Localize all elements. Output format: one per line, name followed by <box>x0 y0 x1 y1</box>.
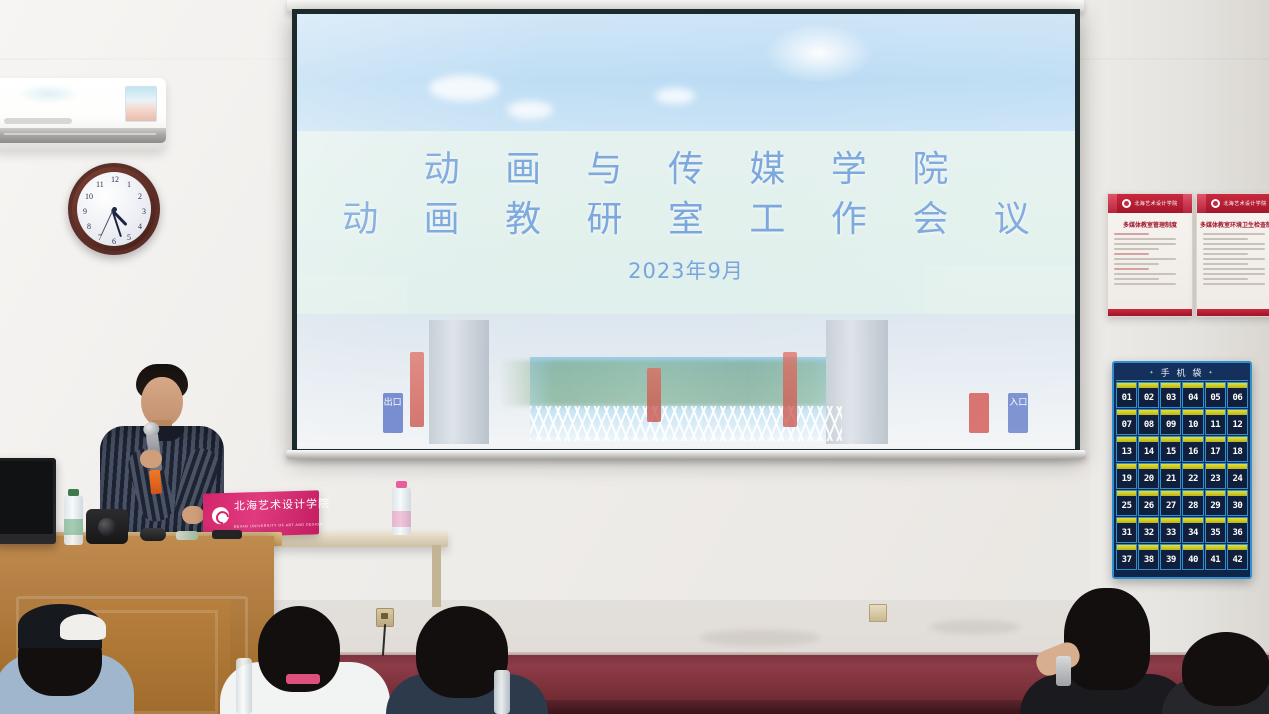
phone-pocket: 11 <box>1205 409 1226 435</box>
phone-pocket-number: 06 <box>1232 393 1242 407</box>
clock-numeral: 10 <box>85 192 93 201</box>
notice-line <box>1203 278 1248 280</box>
phone-pocket: 39 <box>1160 544 1181 570</box>
bottle-cap <box>68 489 79 496</box>
phone-pocket: 20 <box>1138 463 1159 489</box>
phone-pocket: 41 <box>1205 544 1226 570</box>
notice-line <box>1203 258 1265 260</box>
audience-member <box>396 600 536 714</box>
gate-sign-exit: 出口 <box>383 393 403 433</box>
phone-pocket-number: 35 <box>1210 528 1220 542</box>
clock-numeral: 12 <box>111 175 119 184</box>
phone-pocket: 30 <box>1227 490 1248 516</box>
phone-pocket: 33 <box>1160 517 1181 543</box>
phone-pocket: 32 <box>1138 517 1159 543</box>
phone-pocket: 07 <box>1116 409 1137 435</box>
phone-pocket: 04 <box>1182 382 1203 408</box>
phone-pocket-number: 32 <box>1144 528 1154 542</box>
phone-pocket-number: 36 <box>1232 528 1242 542</box>
phone-pocket-number: 25 <box>1122 501 1132 515</box>
phone-pocket: 05 <box>1205 382 1226 408</box>
notice-line <box>1114 263 1159 265</box>
phone-pocket-header-label: 手 机 袋 <box>1161 366 1204 379</box>
gate-pillar-left <box>429 320 489 444</box>
slide-campus-gate: 出口 入口 <box>297 314 1075 449</box>
lecture-hall-photo: 12 1 2 3 4 5 6 7 8 9 10 11 <box>0 0 1269 714</box>
phone-pocket-number: 24 <box>1232 474 1242 488</box>
ac-air-vent <box>0 128 166 143</box>
side-table-leg <box>432 545 441 607</box>
phone-pocket: 09 <box>1160 409 1181 435</box>
presenter-gesturing-hand <box>182 506 204 524</box>
cap-brim <box>60 614 106 640</box>
notice-line <box>1203 238 1248 240</box>
gate-banner <box>783 352 797 428</box>
clock-numeral: 11 <box>96 180 104 189</box>
phone-pocket-number: 17 <box>1210 447 1220 461</box>
university-logo-icon <box>1122 199 1131 208</box>
slide-date: 2023年9月 <box>297 255 1075 285</box>
notice-line <box>1203 243 1265 245</box>
gate-sign-entrance: 入口 <box>1008 393 1028 433</box>
phone-pocket-number: 03 <box>1166 393 1176 407</box>
phone-pocket-number: 15 <box>1166 447 1176 461</box>
phone-pocket-number: 41 <box>1210 555 1220 569</box>
clock-face: 12 1 2 3 4 5 6 7 8 9 10 11 <box>77 172 151 246</box>
camera-lens <box>98 518 116 536</box>
phone-pocket-number: 02 <box>1144 393 1154 407</box>
slide-cloud <box>655 88 695 104</box>
gate-sign-red <box>969 393 989 433</box>
phone-pocket-number: 16 <box>1188 447 1198 461</box>
university-logo-icon <box>212 506 229 523</box>
notice-line <box>1114 273 1176 275</box>
phone-pocket: 19 <box>1116 463 1137 489</box>
phone-pocket: 28 <box>1182 490 1203 516</box>
audience-head <box>1182 632 1269 706</box>
phone-pocket: 22 <box>1182 463 1203 489</box>
audience-lanyard <box>286 674 320 684</box>
notice-line <box>1114 248 1159 250</box>
sign-english-name: BEIHAI UNIVERSITY OF ART AND DESIGN <box>234 522 323 528</box>
phone-pocket-number: 19 <box>1122 474 1132 488</box>
microphone-orange-tag <box>149 470 162 495</box>
notice-line <box>1114 258 1176 260</box>
gate-banner <box>647 368 661 422</box>
notice-line <box>1203 248 1265 250</box>
phone-pocket: 03 <box>1160 382 1181 408</box>
notice-board-header: 北海艺术设计学院 <box>1108 194 1192 213</box>
phone-pocket-number: 22 <box>1188 474 1198 488</box>
notice-line <box>1114 238 1176 240</box>
phone-pocket-number: 11 <box>1210 420 1220 434</box>
phone-pocket-chart: ✦ 手 机 袋 ✦ 010203040506070809101112131415… <box>1112 361 1252 579</box>
audience-member <box>1020 580 1170 714</box>
phone-pocket-header: ✦ 手 机 袋 ✦ <box>1116 365 1248 381</box>
notice-line <box>1203 233 1265 235</box>
notice-line <box>1114 268 1149 270</box>
bottle-label <box>64 519 83 535</box>
audience-member <box>228 596 378 714</box>
phone-pocket-number: 13 <box>1122 447 1132 461</box>
phone-pocket-number: 21 <box>1166 474 1176 488</box>
slide-sun-glow <box>764 23 874 83</box>
phone-pocket-number: 39 <box>1166 555 1176 569</box>
phone-pocket: 14 <box>1138 436 1159 462</box>
phone-pocket: 34 <box>1182 517 1203 543</box>
notice-line <box>1114 278 1159 280</box>
phone-pocket-number: 12 <box>1232 420 1242 434</box>
bottle-label <box>392 511 411 527</box>
water-bottle <box>236 658 252 714</box>
notice-board-2: 北海艺术设计学院 多媒体教室环境卫生检查制度 <box>1196 193 1269 317</box>
phone-pocket-number: 01 <box>1122 393 1132 407</box>
phone-pocket: 17 <box>1205 436 1226 462</box>
phone-pocket-number: 27 <box>1166 501 1176 515</box>
slide-title-block: 动 画 与 传 媒 学 院 动 画 教 研 室 工 作 会 议 2023年9月 <box>297 145 1075 285</box>
phone-pocket: 35 <box>1205 517 1226 543</box>
clock-numeral: 9 <box>83 207 87 216</box>
phone-pocket-number: 34 <box>1188 528 1198 542</box>
phone-pocket-number: 18 <box>1232 447 1242 461</box>
phone-pocket-number: 42 <box>1232 555 1242 569</box>
phone-pocket-grid: 0102030405060708091011121314151617181920… <box>1116 382 1248 570</box>
wall-scuff <box>930 620 1020 634</box>
phone-pocket: 06 <box>1227 382 1248 408</box>
phone-pocket-number: 40 <box>1188 555 1198 569</box>
phone-pocket: 10 <box>1182 409 1203 435</box>
document-camera <box>86 509 128 544</box>
notice-line <box>1114 243 1176 245</box>
phone-pocket: 02 <box>1138 382 1159 408</box>
projector-screen-weight-bar <box>286 450 1086 459</box>
notice-line <box>1114 253 1149 255</box>
computer-mouse[interactable] <box>140 528 166 541</box>
phone-pocket: 31 <box>1116 517 1137 543</box>
audience-head-bun <box>1064 588 1150 690</box>
phone-pocket: 16 <box>1182 436 1203 462</box>
phone-pocket: 21 <box>1160 463 1181 489</box>
phone-pocket: 29 <box>1205 490 1226 516</box>
pink-bottle <box>392 487 411 535</box>
phone-pocket-number: 38 <box>1144 555 1154 569</box>
presenter-hand-on-mic <box>140 450 162 468</box>
phone-pocket-number: 31 <box>1122 528 1132 542</box>
phone-pocket: 24 <box>1227 463 1248 489</box>
wall-scuff <box>700 630 820 646</box>
notice-line <box>1203 273 1265 275</box>
university-logo-icon <box>1211 199 1220 208</box>
sign-text-block: 北海艺术设计学院 BEIHAI UNIVERSITY OF ART AND DE… <box>234 494 330 533</box>
water-bottle <box>494 670 510 714</box>
notice-line <box>1203 283 1265 285</box>
microphone-head <box>143 421 161 437</box>
phone-pocket-number: 20 <box>1144 474 1154 488</box>
phone-pocket: 40 <box>1182 544 1203 570</box>
star-icon: ✦ <box>1149 370 1155 376</box>
marker-pens <box>176 531 198 540</box>
phone-pocket-number: 28 <box>1188 501 1198 515</box>
phone-pocket-number: 14 <box>1144 447 1154 461</box>
ac-display-bar <box>4 118 72 124</box>
phone-pocket: 27 <box>1160 490 1181 516</box>
wall-socket-plate <box>869 604 887 622</box>
audience-member <box>1168 618 1269 714</box>
wall-clock: 12 1 2 3 4 5 6 7 8 9 10 11 <box>68 163 160 255</box>
clock-numeral: 1 <box>127 180 131 189</box>
notice-board-body <box>1197 233 1269 285</box>
notice-line <box>1203 253 1248 255</box>
notice-board-footer <box>1197 309 1269 316</box>
notice-board-logo-text: 北海艺术设计学院 <box>1223 200 1266 207</box>
phone-pocket: 08 <box>1138 409 1159 435</box>
slide-cloud <box>507 101 553 119</box>
ac-sheen <box>18 84 80 104</box>
phone-pocket-number: 09 <box>1166 420 1176 434</box>
phone-pocket-number: 07 <box>1122 420 1132 434</box>
notice-board-header: 北海艺术设计学院 <box>1197 194 1269 213</box>
phone-pocket-number: 04 <box>1188 393 1198 407</box>
audience-member <box>0 596 130 714</box>
phone-pocket-number: 37 <box>1122 555 1132 569</box>
phone-pocket-number: 33 <box>1166 528 1176 542</box>
phone-pocket: 37 <box>1116 544 1137 570</box>
phone-pocket: 36 <box>1227 517 1248 543</box>
presentation-slide: 动 画 与 传 媒 学 院 动 画 教 研 室 工 作 会 议 2023年9月 … <box>297 14 1075 449</box>
phone-pocket-number: 05 <box>1210 393 1220 407</box>
slide-title-line-1: 动 画 与 传 媒 学 院 <box>297 145 1075 195</box>
notice-board-title: 多媒体教室管理制度 <box>1108 220 1192 229</box>
slide-title-line-2: 动 画 教 研 室 工 作 会 议 <box>297 195 1075 245</box>
phone-pocket: 15 <box>1160 436 1181 462</box>
clock-numeral: 8 <box>87 222 91 231</box>
raised-phone[interactable] <box>1056 656 1071 686</box>
phone-pocket-number: 23 <box>1210 474 1220 488</box>
phone-pocket: 13 <box>1116 436 1137 462</box>
podium-water-bottle <box>64 495 83 545</box>
phone-pocket-number: 26 <box>1144 501 1154 515</box>
slide-cloud <box>429 75 499 101</box>
gate-banner <box>410 352 424 428</box>
clock-numeral: 5 <box>127 233 131 242</box>
phone-pocket: 26 <box>1138 490 1159 516</box>
phone-pocket: 25 <box>1116 490 1137 516</box>
phone-pocket: 18 <box>1227 436 1248 462</box>
remote-control[interactable] <box>212 530 242 539</box>
podium-monitor <box>0 458 56 544</box>
clock-numeral: 4 <box>138 222 142 231</box>
phone-pocket-number: 10 <box>1188 420 1198 434</box>
air-conditioner <box>0 78 166 150</box>
clock-numeral: 3 <box>142 207 146 216</box>
clock-numeral: 2 <box>138 192 142 201</box>
notice-line <box>1114 283 1176 285</box>
phone-pocket-number: 08 <box>1144 420 1154 434</box>
projection-screen: 动 画 与 传 媒 学 院 动 画 教 研 室 工 作 会 议 2023年9月 … <box>292 9 1080 454</box>
clock-second-hand <box>100 209 114 237</box>
notice-board-title: 多媒体教室环境卫生检查制度 <box>1197 220 1269 229</box>
bottle-cap <box>396 481 407 488</box>
monitor-screen <box>0 461 53 534</box>
phone-pocket-number: 30 <box>1232 501 1242 515</box>
star-icon: ✦ <box>1208 370 1214 376</box>
notice-board-1: 北海艺术设计学院 多媒体教室管理制度 <box>1107 193 1193 317</box>
phone-pocket: 38 <box>1138 544 1159 570</box>
notice-line <box>1203 263 1248 265</box>
sign-chinese-name: 北海艺术设计学院 <box>234 497 330 513</box>
ac-energy-label <box>125 86 157 122</box>
phone-pocket: 12 <box>1227 409 1248 435</box>
phone-pocket-number: 29 <box>1210 501 1220 515</box>
clock-center-pin <box>112 207 117 212</box>
notice-board-footer <box>1108 309 1192 316</box>
clock-numeral: 6 <box>112 237 116 246</box>
phone-pocket: 01 <box>1116 382 1137 408</box>
notice-board-body <box>1108 233 1192 285</box>
phone-pocket: 23 <box>1205 463 1226 489</box>
notice-line <box>1203 268 1265 270</box>
notice-board-logo-text: 北海艺术设计学院 <box>1134 200 1177 207</box>
notice-line <box>1114 233 1149 235</box>
phone-pocket: 42 <box>1227 544 1248 570</box>
